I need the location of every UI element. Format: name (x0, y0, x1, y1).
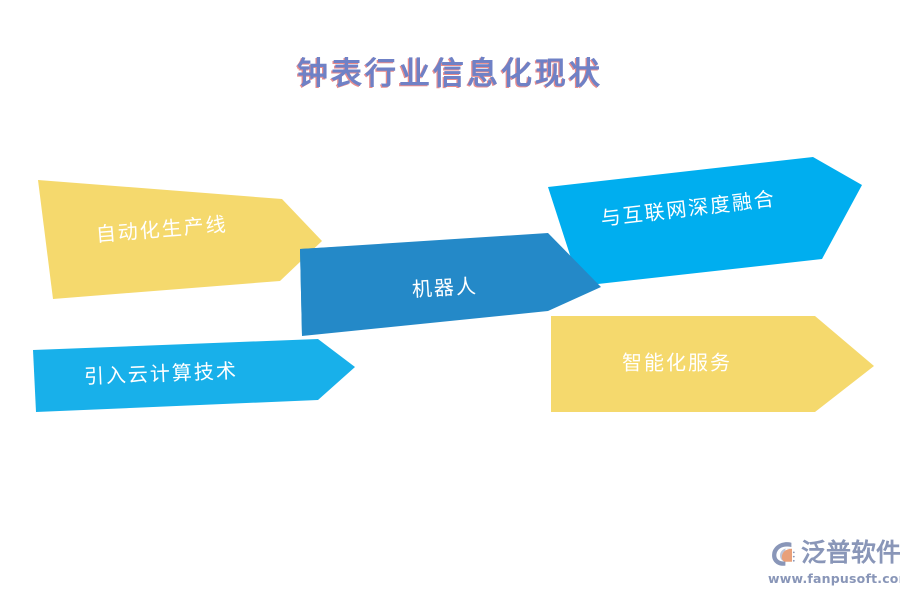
process-arrow-diagram: 自动化生产线 与互联网深度融合 机器人 引入云计算技术 智能化服务 (0, 0, 900, 600)
center-node-robot-label: 机器人 (411, 274, 478, 302)
arrow-cloud-computing[interactable]: 引入云计算技术 (33, 339, 355, 412)
arrow-internet-integration[interactable]: 与互联网深度融合 (548, 157, 862, 286)
slide-canvas: 钟表行业信息化现状 自动化生产线 与互联网深度融合 机器人 引入云计算技术 智能… (0, 0, 900, 600)
fanpu-c-swoosh-icon (768, 538, 798, 568)
brand-logo: 泛普软件 www.fanpusoft.com (768, 536, 894, 590)
arrow-intelligent-service[interactable]: 智能化服务 (551, 316, 874, 412)
arrow-automation-line[interactable]: 自动化生产线 (38, 180, 322, 299)
brand-logo-name: 泛普软件 (801, 538, 900, 568)
arrow-internet-integration-shape[interactable] (548, 157, 862, 286)
brand-logo-row: 泛普软件 (768, 536, 894, 570)
arrow-intelligent-service-label: 智能化服务 (622, 351, 732, 375)
brand-logo-url: www.fanpusoft.com (768, 571, 894, 586)
